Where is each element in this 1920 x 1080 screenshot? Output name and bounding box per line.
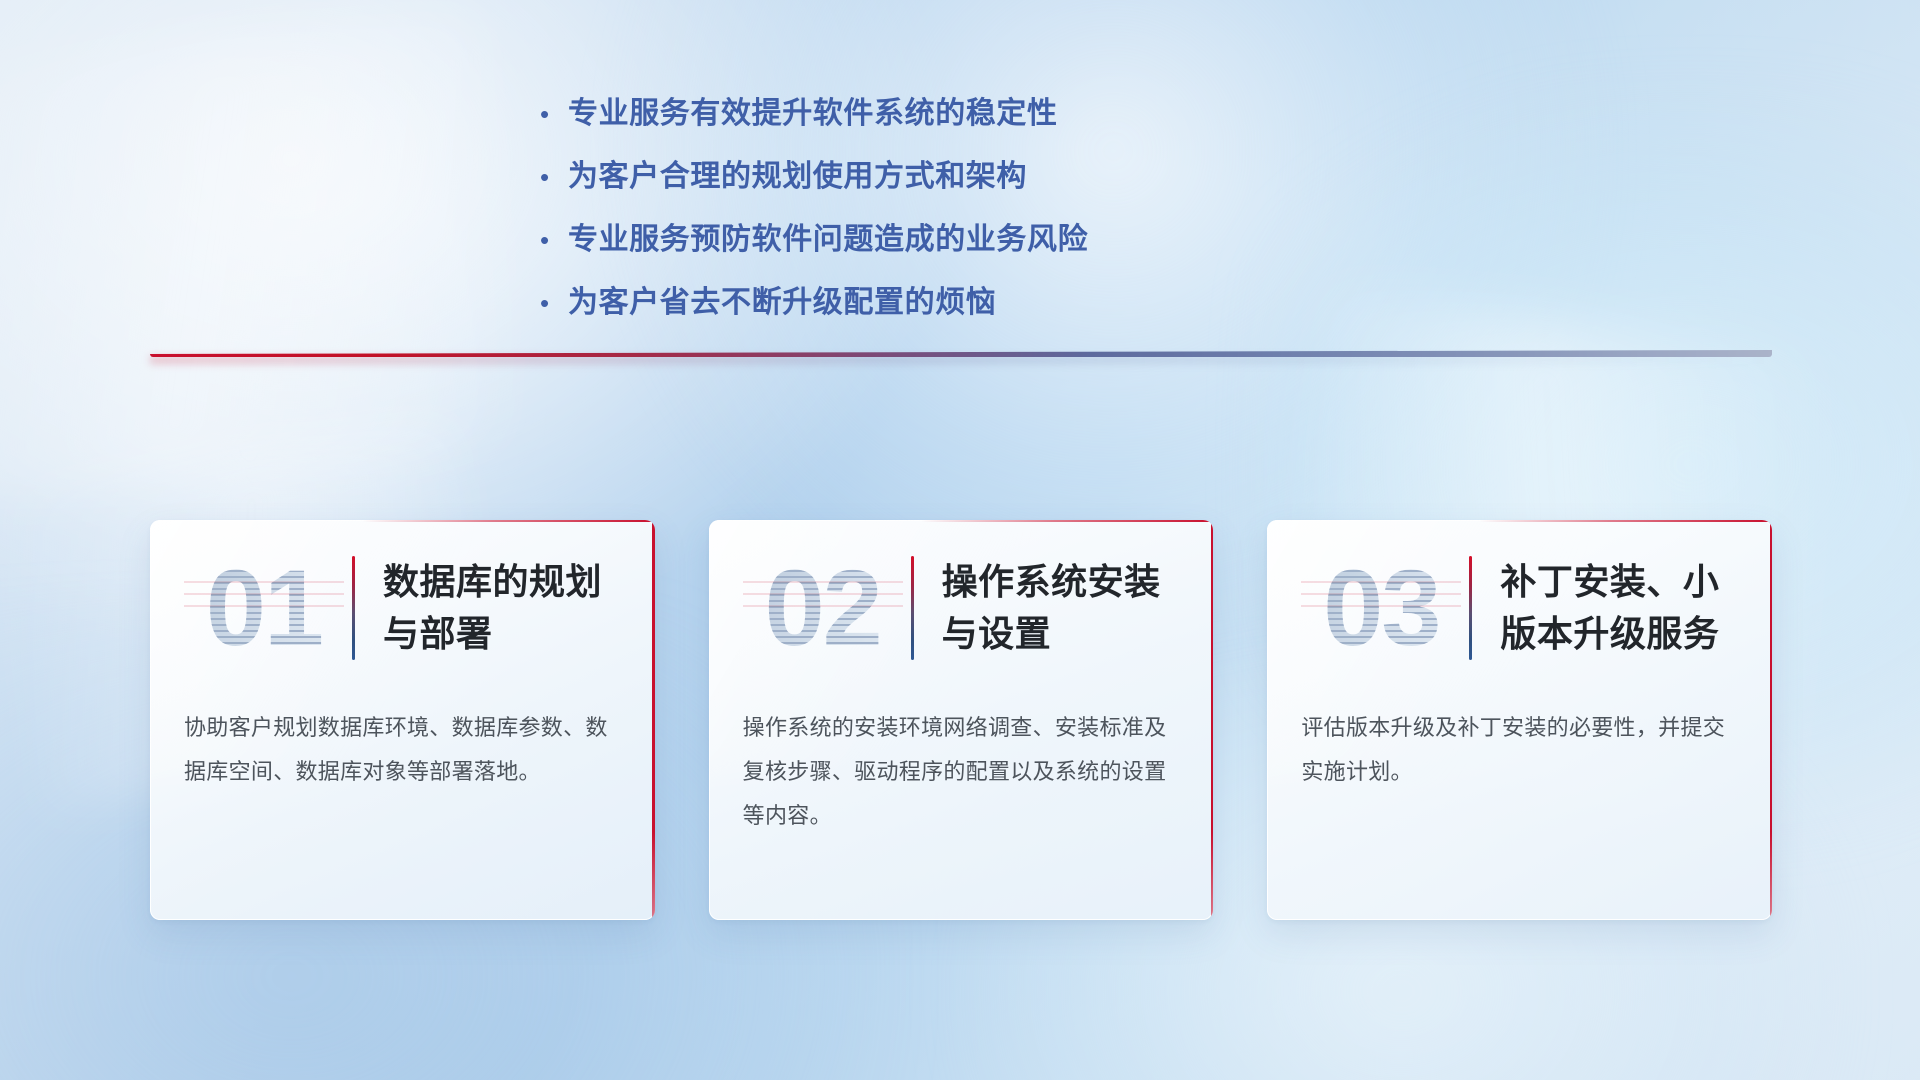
- card-body-text: 评估版本升级及补丁安装的必要性，并提交实施计划。: [1267, 696, 1772, 794]
- card-header: 03 补丁安装、小版本升级服务: [1267, 520, 1772, 696]
- bullet-text-4: 为客户省去不断升级配置的烦恼: [568, 281, 996, 325]
- service-card-01[interactable]: 01 数据库的规划与部署 协助客户规划数据库环境、数据库参数、数据库空间、数据库…: [150, 520, 655, 920]
- card-title-rule: [1469, 556, 1472, 660]
- card-number-red-stripes: [184, 581, 344, 613]
- bullet-dot-icon: •: [534, 92, 568, 136]
- list-item: • 为客户省去不断升级配置的烦恼: [534, 281, 1294, 344]
- card-number-watermark: 02: [743, 546, 903, 670]
- card-title: 数据库的规划与部署: [383, 556, 633, 660]
- bullet-dot-icon: •: [534, 218, 568, 262]
- card-title: 操作系统安装与设置: [942, 556, 1192, 660]
- card-number-watermark: 03: [1301, 546, 1461, 670]
- card-body-text: 操作系统的安装环境网络调查、安装标准及复核步骤、驱动程序的配置以及系统的设置等内…: [709, 696, 1214, 838]
- card-title-rule: [352, 556, 355, 660]
- service-card-02[interactable]: 02 操作系统安装与设置 操作系统的安装环境网络调查、安装标准及复核步骤、驱动程…: [709, 520, 1214, 920]
- section-divider: [150, 346, 1772, 362]
- card-body-text: 协助客户规划数据库环境、数据库参数、数据库空间、数据库对象等部署落地。: [150, 696, 655, 794]
- bullet-dot-icon: •: [534, 155, 568, 199]
- bullet-text-2: 为客户合理的规划使用方式和架构: [568, 155, 1027, 199]
- divider-bar: [150, 350, 1772, 357]
- bullet-text-3: 专业服务预防软件问题造成的业务风险: [568, 218, 1088, 262]
- list-item: • 专业服务有效提升软件系统的稳定性: [534, 92, 1294, 155]
- card-header: 01 数据库的规划与部署: [150, 520, 655, 696]
- card-number-red-stripes: [743, 581, 903, 613]
- slide-canvas: • 专业服务有效提升软件系统的稳定性 • 为客户合理的规划使用方式和架构 • 专…: [0, 0, 1920, 1080]
- divider-shadow: [150, 356, 1772, 364]
- bullet-text-1: 专业服务有效提升软件系统的稳定性: [568, 92, 1058, 136]
- list-item: • 专业服务预防软件问题造成的业务风险: [534, 218, 1294, 281]
- card-number-red-stripes: [1301, 581, 1461, 613]
- benefits-bullet-list: • 专业服务有效提升软件系统的稳定性 • 为客户合理的规划使用方式和架构 • 专…: [534, 92, 1294, 344]
- card-number-watermark: 01: [184, 546, 344, 670]
- card-title-rule: [911, 556, 914, 660]
- service-card-row: 01 数据库的规划与部署 协助客户规划数据库环境、数据库参数、数据库空间、数据库…: [150, 520, 1772, 920]
- card-header: 02 操作系统安装与设置: [709, 520, 1214, 696]
- card-title: 补丁安装、小版本升级服务: [1500, 556, 1750, 660]
- list-item: • 为客户合理的规划使用方式和架构: [534, 155, 1294, 218]
- bullet-dot-icon: •: [534, 281, 568, 325]
- service-card-03[interactable]: 03 补丁安装、小版本升级服务 评估版本升级及补丁安装的必要性，并提交实施计划。: [1267, 520, 1772, 920]
